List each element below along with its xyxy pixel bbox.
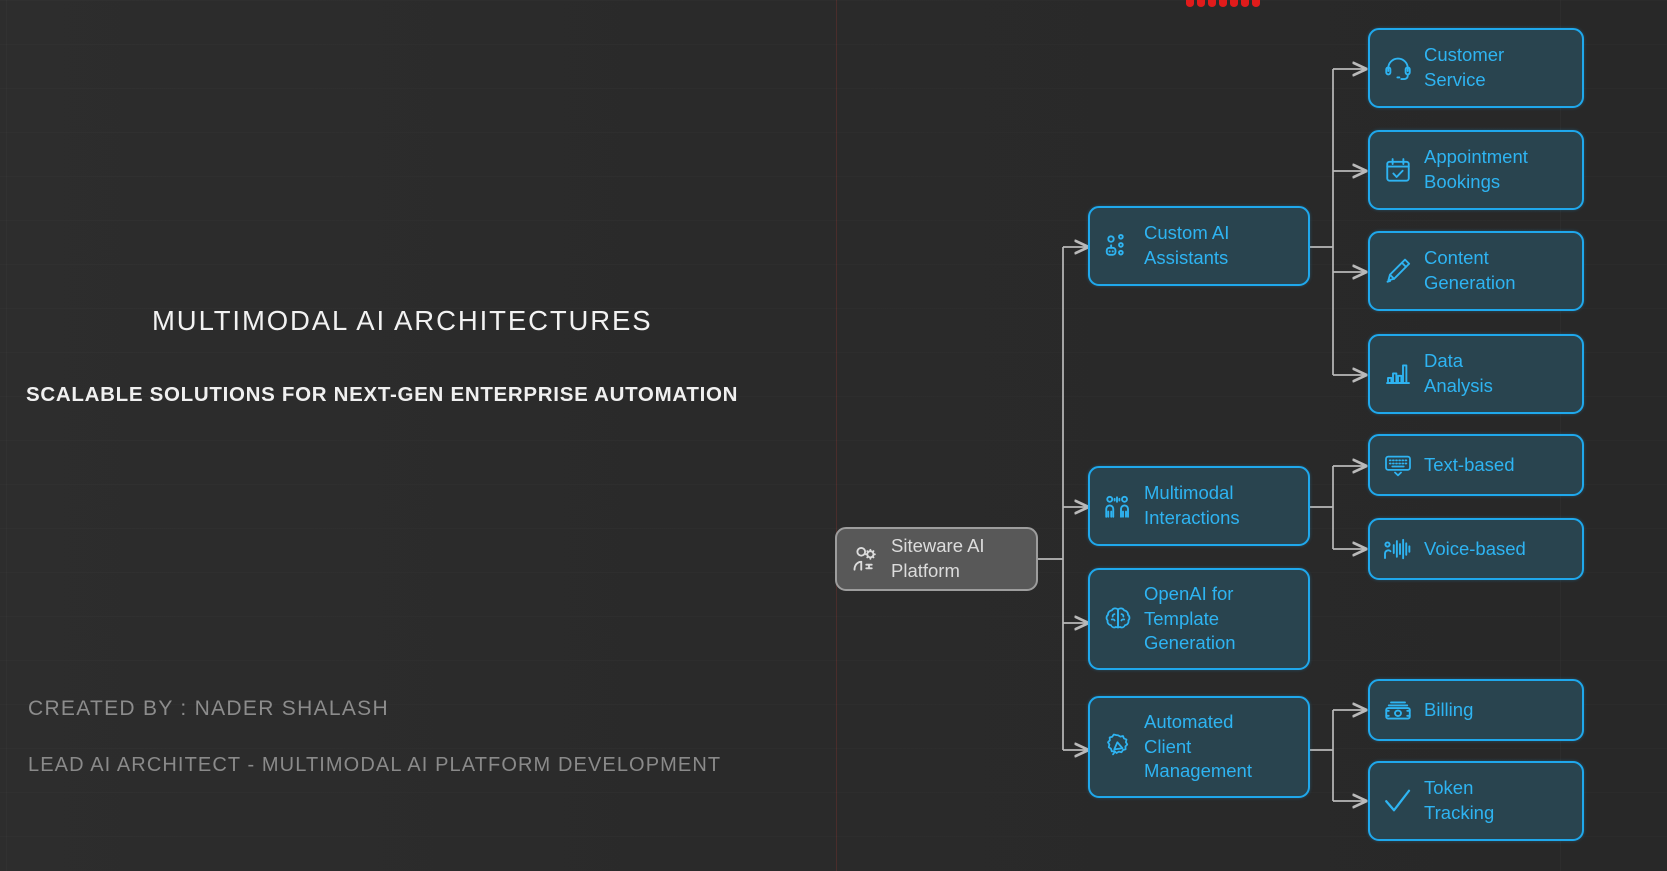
node-label: Billing: [1424, 699, 1473, 721]
node-label: Text-based: [1424, 454, 1515, 476]
node-label: Content Generation: [1424, 246, 1516, 296]
node-openai-template-generation[interactable]: OpenAI for Template Generation: [1088, 568, 1310, 670]
red-dotted-artifact: [1186, 0, 1260, 7]
node-voice-based[interactable]: Voice-based: [1368, 518, 1584, 580]
node-automated-client-management[interactable]: Automated Client Management: [1088, 696, 1310, 798]
two-people-talking-icon: [1103, 491, 1133, 521]
credit-line: CREATED BY : NADER SHALASH: [28, 697, 389, 721]
diagram-canvas: MULTIMODAL AI ARCHITECTURES SCALABLE SOL…: [0, 0, 1667, 871]
role-line: LEAD AI ARCHITECT - MULTIMODAL AI PLATFO…: [28, 754, 721, 777]
brain-icon: [1103, 604, 1133, 634]
headset-icon: [1383, 53, 1413, 83]
calendar-check-icon: [1383, 155, 1413, 185]
node-label: Voice-based: [1424, 538, 1526, 560]
node-label: Token Tracking: [1424, 776, 1494, 826]
node-label: Multimodal Interactions: [1144, 481, 1240, 531]
background-seam-red: [836, 0, 837, 871]
node-content-generation[interactable]: Content Generation: [1368, 231, 1584, 311]
node-multimodal-interactions[interactable]: Multimodal Interactions: [1088, 466, 1310, 546]
keyboard-icon: [1383, 450, 1413, 480]
page-title: MULTIMODAL AI ARCHITECTURES: [152, 305, 653, 337]
node-label: Data Analysis: [1424, 349, 1493, 399]
node-token-tracking[interactable]: Token Tracking: [1368, 761, 1584, 841]
node-customer-service[interactable]: Customer Service: [1368, 28, 1584, 108]
voice-waveform-icon: [1383, 534, 1413, 564]
robot-users-icon: [1103, 231, 1133, 261]
node-label: OpenAI for Template Generation: [1144, 582, 1236, 657]
node-text-based[interactable]: Text-based: [1368, 434, 1584, 496]
cash-icon: [1383, 695, 1413, 725]
node-data-analysis[interactable]: Data Analysis: [1368, 334, 1584, 414]
node-siteware-ai-platform[interactable]: Siteware AI Platform: [835, 527, 1038, 591]
pencil-icon: [1383, 256, 1413, 286]
bar-chart-icon: [1383, 359, 1413, 389]
node-label: Siteware AI Platform: [891, 534, 1023, 584]
check-icon: [1383, 786, 1413, 816]
background-seam: [6, 0, 7, 871]
person-gear-icon: [850, 544, 880, 574]
node-custom-ai-assistants[interactable]: Custom AI Assistants: [1088, 206, 1310, 286]
node-label: Appointment Bookings: [1424, 145, 1528, 195]
node-label: Customer Service: [1424, 43, 1504, 93]
page-subtitle: SCALABLE SOLUTIONS FOR NEXT-GEN ENTERPRI…: [26, 383, 738, 407]
node-label: Custom AI Assistants: [1144, 221, 1229, 271]
node-appointment-bookings[interactable]: Appointment Bookings: [1368, 130, 1584, 210]
node-billing[interactable]: Billing: [1368, 679, 1584, 741]
node-label: Automated Client Management: [1144, 710, 1252, 785]
gear-automation-icon: [1103, 732, 1133, 762]
